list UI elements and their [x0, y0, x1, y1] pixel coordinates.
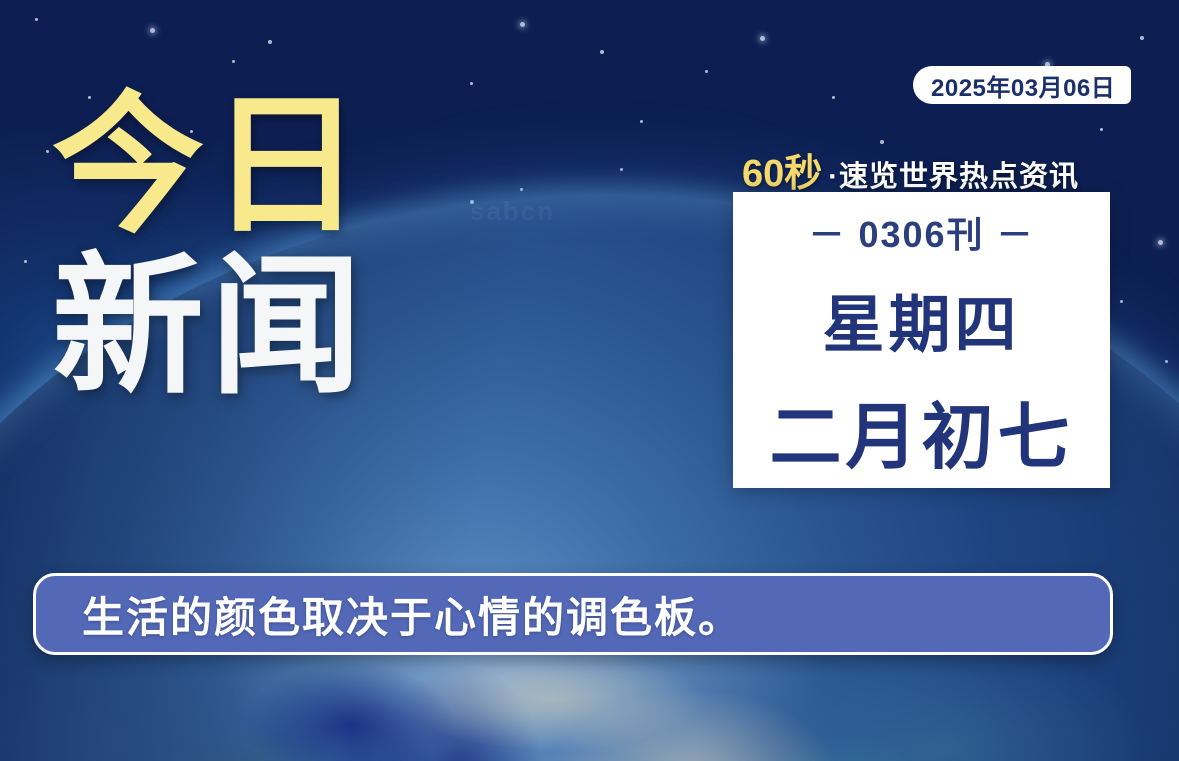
tagline-rest: ·速览世界热点资讯 [828, 153, 1079, 195]
issue-number: － 0306刊 － [808, 206, 1034, 258]
date-info-card: － 0306刊 － 星期四 二月初七 [733, 192, 1110, 488]
title-line-today: 今日 [52, 92, 472, 241]
weekday-label: 星期四 [822, 274, 1020, 364]
news-poster: sabcn 今日 新闻 2025年03月06日 60秒 ·速览世界热点资讯 － … [0, 0, 1179, 761]
lunar-date-label: 二月初七 [769, 378, 1073, 483]
quote-text: 生活的颜色取决于心情的调色板。 [82, 584, 742, 645]
date-badge: 2025年03月06日 [913, 66, 1131, 104]
tagline: 60秒 ·速览世界热点资讯 [742, 142, 1079, 197]
page-title: 今日 新闻 [52, 92, 472, 402]
title-line-news: 新闻 [52, 253, 472, 402]
quote-bar: 生活的颜色取决于心情的调色板。 [33, 573, 1113, 655]
tagline-highlight: 60秒 [742, 142, 822, 197]
watermark: sabcn [470, 196, 555, 227]
